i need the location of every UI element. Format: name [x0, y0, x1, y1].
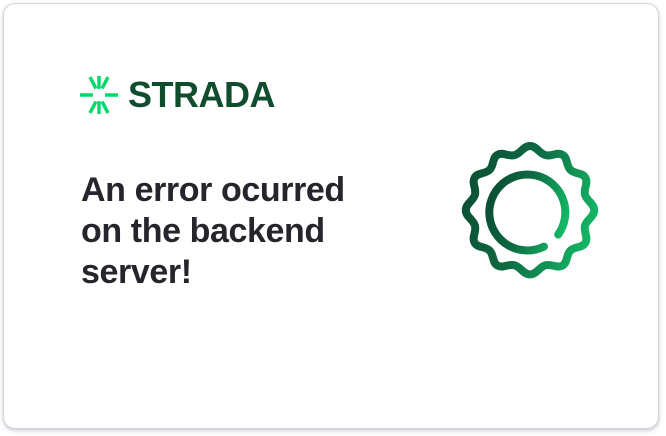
error-message: An error ocurred on the backend server!: [81, 170, 381, 293]
error-card: STRADA An error ocurred on the backend s…: [3, 3, 659, 429]
brand-wordmark: STRADA: [128, 77, 275, 113]
gear-icon: [452, 138, 608, 294]
strada-asterisk-icon: [80, 76, 118, 114]
brand-logo: STRADA: [80, 76, 275, 114]
